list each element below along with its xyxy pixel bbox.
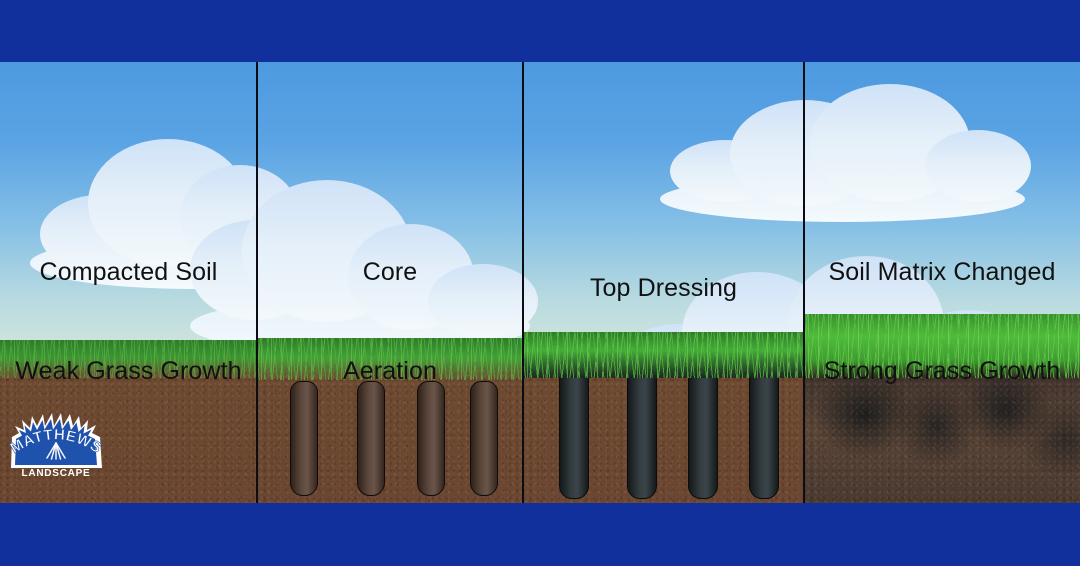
aeration-hole-filled: [559, 369, 589, 499]
panel-4-caption-line1: Soil Matrix Changed: [804, 256, 1080, 289]
panel-4-caption-line2: Strong Grass Growth: [804, 355, 1080, 388]
panel-1-caption-line2: Weak Grass Growth: [0, 355, 257, 388]
matthews-landscape-logo[interactable]: MATTHEWS LANDSCAPE: [4, 400, 108, 480]
aeration-hole-filled: [627, 369, 657, 499]
panel-divider-3: [803, 62, 805, 503]
panel-4-caption: Soil Matrix Changed Strong Grass Growth: [804, 190, 1080, 454]
panel-2-caption-line1: Core: [257, 256, 523, 289]
top-brand-band: [0, 0, 1080, 62]
panel-2-caption-line2: Aeration: [257, 355, 523, 388]
aeration-hole-filled: [688, 369, 718, 499]
bottom-brand-band: [0, 503, 1080, 566]
aeration-hole-filled: [749, 369, 779, 499]
infographic-canvas: Compacted Soil Weak Grass Growth Core Ae…: [0, 0, 1080, 566]
panel-divider-1: [256, 62, 258, 503]
panel-divider-2: [522, 62, 524, 503]
panel-1-caption-line1: Compacted Soil: [0, 256, 257, 289]
panel-2-caption: Core Aeration: [257, 190, 523, 454]
panel-3-caption: Top Dressing: [523, 206, 804, 371]
panel-3-caption-line1: Top Dressing: [523, 272, 804, 305]
logo-line2: LANDSCAPE: [22, 468, 91, 479]
